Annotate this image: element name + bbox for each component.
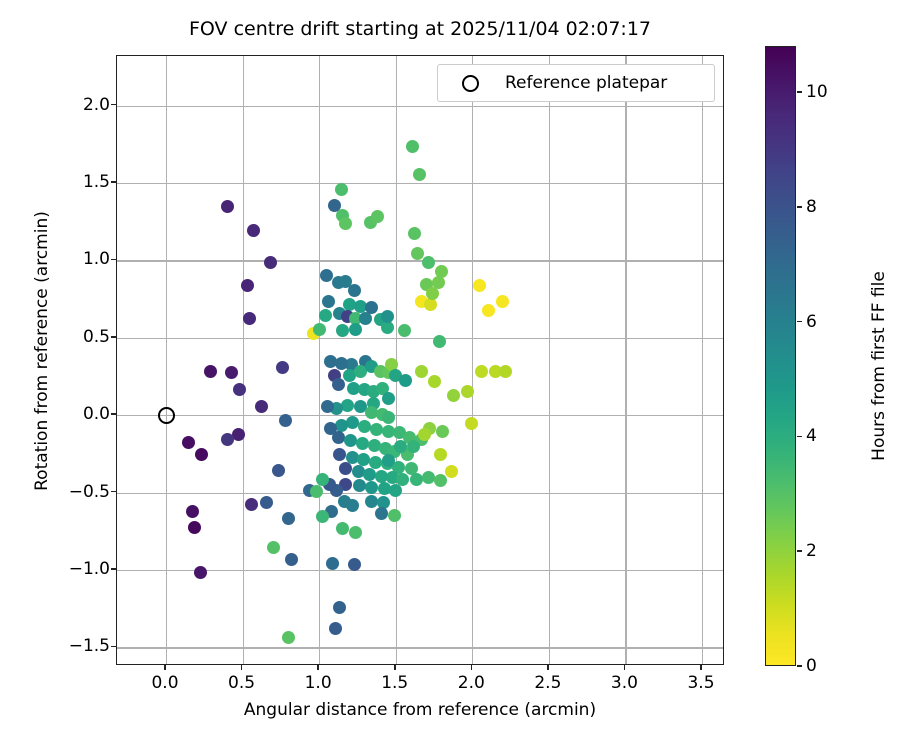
x-tick-label: 2.0: [458, 673, 485, 693]
y-tick-mark: [111, 181, 116, 183]
colorbar-tick-mark: [797, 550, 802, 552]
colorbar-tick-label: 4: [806, 426, 817, 446]
x-tick-label: 3.0: [611, 673, 638, 693]
x-axis-label: Angular distance from reference (arcmin): [116, 700, 724, 720]
y-tick-mark: [111, 259, 116, 261]
colorbar-tick-mark: [797, 436, 802, 438]
colorbar-tick-label: 10: [806, 82, 828, 102]
colorbar-tick-label: 6: [806, 312, 817, 332]
x-tick-label: 1.5: [381, 673, 408, 693]
x-tick-mark: [241, 665, 243, 670]
legend-entry-label: Reference platepar: [505, 73, 667, 93]
y-tick-label: −1.5: [69, 636, 110, 656]
matplotlib-figure: FOV centre drift starting at 2025/11/04 …: [0, 0, 900, 750]
x-tick-label: 1.0: [305, 673, 332, 693]
y-tick-label: 1.0: [83, 249, 110, 269]
reference-marker-layer: [117, 56, 723, 664]
y-tick-mark: [111, 568, 116, 570]
x-tick-label: 2.5: [534, 673, 561, 693]
colorbar-tick-mark: [797, 206, 802, 208]
y-tick-mark: [111, 104, 116, 106]
x-tick-mark: [394, 665, 396, 670]
y-tick-label: 0.5: [83, 327, 110, 347]
x-tick-mark: [624, 665, 626, 670]
colorbar-tick-label: 0: [806, 656, 817, 676]
colorbar-tick-label: 2: [806, 541, 817, 561]
legend: Reference platepar: [437, 64, 715, 102]
x-tick-mark: [547, 665, 549, 670]
x-tick-label: 0.5: [228, 673, 255, 693]
y-tick-mark: [111, 646, 116, 648]
colorbar-tick-mark: [797, 321, 802, 323]
x-tick-mark: [317, 665, 319, 670]
colorbar-label: Hours from first FF file: [869, 56, 889, 676]
colorbar-tick-mark: [797, 665, 802, 667]
y-tick-label: 2.0: [83, 95, 110, 115]
page-title: FOV centre drift starting at 2025/11/04 …: [116, 18, 724, 40]
x-tick-mark: [164, 665, 166, 670]
x-tick-label: 3.5: [687, 673, 714, 693]
x-tick-label: 0.0: [151, 673, 178, 693]
colorbar-tick-mark: [797, 91, 802, 93]
x-tick-mark: [700, 665, 702, 670]
y-tick-label: −1.0: [69, 559, 110, 579]
legend-circle-icon: [462, 75, 479, 92]
x-tick-mark: [471, 665, 473, 670]
y-tick-label: −0.5: [69, 482, 110, 502]
y-tick-label: 1.5: [83, 172, 110, 192]
scatter-plot-axes: [116, 55, 724, 665]
y-tick-mark: [111, 413, 116, 415]
y-tick-label: 0.0: [83, 404, 110, 424]
y-axis-label: Rotation from reference (arcmin): [32, 46, 52, 656]
y-tick-mark: [111, 491, 116, 493]
colorbar-tick-label: 8: [806, 197, 817, 217]
colorbar: [765, 46, 796, 666]
y-tick-mark: [111, 336, 116, 338]
reference-platepar-marker: [158, 407, 175, 424]
